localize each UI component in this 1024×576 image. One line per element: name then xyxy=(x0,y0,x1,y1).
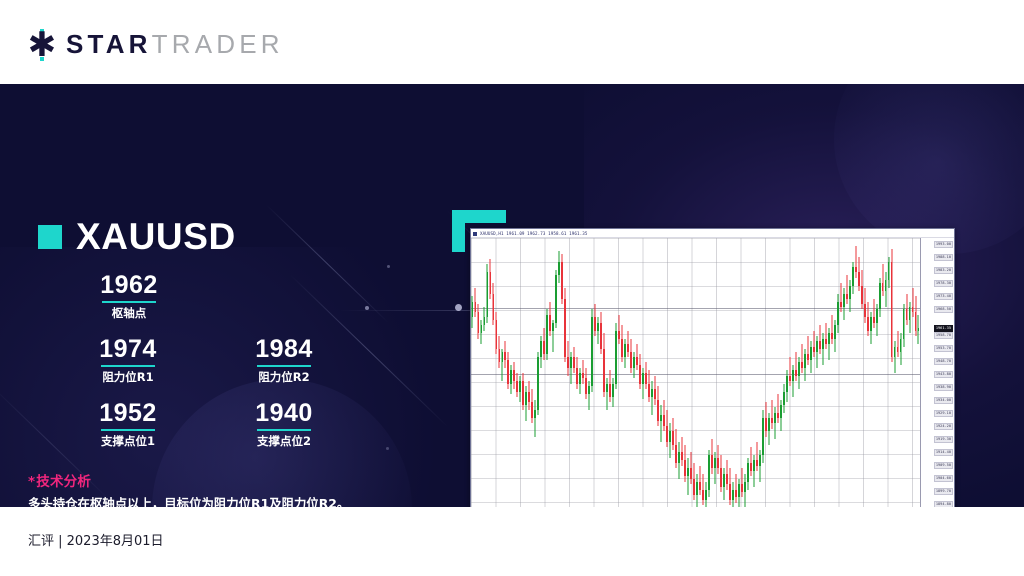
candlestick xyxy=(867,238,869,507)
stat-pivot: 1962 枢轴点 xyxy=(74,272,184,320)
price-tick: 1929.10 xyxy=(934,410,953,417)
candlestick xyxy=(852,238,854,507)
candlestick xyxy=(528,238,530,507)
candlestick xyxy=(747,238,749,507)
candlestick xyxy=(741,238,743,507)
stat-underline xyxy=(101,429,155,431)
analysis-heading-text: 技术分析 xyxy=(36,474,91,490)
stat-underline xyxy=(257,365,311,367)
candlestick xyxy=(558,238,560,507)
candlestick xyxy=(846,238,848,507)
stat-value: 1952 xyxy=(74,400,182,427)
candlestick xyxy=(675,238,677,507)
candlestick xyxy=(819,238,821,507)
pivot-row-support: 1952 支撑点位1 1940 支撑点位2 xyxy=(74,400,338,448)
price-tick: 1988.10 xyxy=(934,254,953,261)
price-tick: 1924.20 xyxy=(934,423,953,430)
candlestick xyxy=(798,238,800,507)
candlestick xyxy=(481,238,483,507)
candlestick xyxy=(567,238,569,507)
asterisk-mark-icon: * xyxy=(28,474,35,490)
candlestick xyxy=(771,238,773,507)
price-tick: 1978.30 xyxy=(934,280,953,287)
candlestick xyxy=(855,238,857,507)
footer-text: 汇评 | 2023年8月01日 xyxy=(28,533,164,551)
chart-titlebar: XAUUSD,H1 1961.09 1962.73 1958.61 1961.3… xyxy=(471,229,954,238)
accent-square-icon xyxy=(38,225,62,249)
bg-dot xyxy=(386,447,389,450)
candlestick xyxy=(627,238,629,507)
stat-support-1: 1952 支撑点位1 xyxy=(74,400,182,448)
candlestick xyxy=(816,238,818,507)
logo-asterisk-glyph: ✱ xyxy=(27,30,57,60)
candlestick xyxy=(714,238,716,507)
page-title: XAUUSD xyxy=(76,218,236,255)
candlestick xyxy=(633,238,635,507)
analysis-line-1: 多头持仓在枢轴点以上，目标位为阻力位R1及阻力位R2。 xyxy=(28,495,408,507)
candlestick xyxy=(639,238,641,507)
stat-support-2: 1940 支撑点位2 xyxy=(230,400,338,448)
candlestick xyxy=(564,238,566,507)
candlestick xyxy=(897,238,899,507)
candlestick xyxy=(804,238,806,507)
candlestick xyxy=(510,238,512,507)
candlestick xyxy=(873,238,875,507)
stat-value: 1940 xyxy=(230,400,338,427)
stat-value: 1962 xyxy=(74,272,184,299)
price-tick: 1973.40 xyxy=(934,293,953,300)
candlestick xyxy=(603,238,605,507)
brand-name-light: TRADER xyxy=(152,29,284,59)
price-tick: 1983.20 xyxy=(934,267,953,274)
chart-titlebar-text: XAUUSD,H1 1961.09 1962.73 1958.61 1961.3… xyxy=(480,229,587,238)
price-tick: 1993.00 xyxy=(934,241,953,248)
candlestick xyxy=(630,238,632,507)
candlestick xyxy=(684,238,686,507)
candlestick xyxy=(666,238,668,507)
candlestick xyxy=(507,238,509,507)
stat-value: 1974 xyxy=(74,336,182,363)
candlestick xyxy=(705,238,707,507)
candlestick xyxy=(672,238,674,507)
candlestick xyxy=(585,238,587,507)
candlestick xyxy=(807,238,809,507)
candlestick xyxy=(789,238,791,507)
stat-label: 支撑点位1 xyxy=(74,434,182,448)
candlestick xyxy=(669,238,671,507)
candlestick xyxy=(777,238,779,507)
candlestick xyxy=(762,238,764,507)
candlestick xyxy=(876,238,878,507)
candlestick xyxy=(810,238,812,507)
candlestick xyxy=(861,238,863,507)
candlestick xyxy=(780,238,782,507)
candlestick xyxy=(753,238,755,507)
candlestick xyxy=(723,238,725,507)
brand-logo[interactable]: ✱ STARTRADER xyxy=(27,29,284,60)
analysis-heading: *技术分析 xyxy=(28,470,408,490)
candlestick xyxy=(484,238,486,507)
stat-value: 1984 xyxy=(230,336,338,363)
candlestick xyxy=(735,238,737,507)
candlestick xyxy=(882,238,884,507)
candlestick xyxy=(894,238,896,507)
candlestick xyxy=(708,238,710,507)
candlestick xyxy=(582,238,584,507)
candlestick xyxy=(840,238,842,507)
candlestick xyxy=(825,238,827,507)
analysis-body: 多头持仓在枢轴点以上，目标位为阻力位R1及阻力位R2。 若低于枢轴点，则可能下跌… xyxy=(28,495,408,507)
candlestick xyxy=(478,238,480,507)
bg-dot xyxy=(365,306,369,310)
price-tick: 1914.40 xyxy=(934,449,953,456)
chart-window[interactable]: XAUUSD,H1 1961.09 1962.73 1958.61 1961.3… xyxy=(470,228,955,507)
candlestick xyxy=(783,238,785,507)
price-tick: 1934.00 xyxy=(934,397,953,404)
logo-pip-bottom xyxy=(40,57,44,61)
candlestick xyxy=(888,238,890,507)
candlestick xyxy=(732,238,734,507)
candlestick xyxy=(786,238,788,507)
stat-resistance-1: 1974 阻力位R1 xyxy=(74,336,182,384)
page-header: ✱ STARTRADER xyxy=(0,0,1024,84)
candlestick xyxy=(912,238,914,507)
candlestick xyxy=(618,238,620,507)
price-tick: 1938.90 xyxy=(934,384,953,391)
stat-label: 阻力位R2 xyxy=(230,370,338,384)
candlestick xyxy=(487,238,489,507)
candlestick xyxy=(496,238,498,507)
candlestick xyxy=(795,238,797,507)
candlestick xyxy=(657,238,659,507)
candlestick xyxy=(543,238,545,507)
candlestick xyxy=(615,238,617,507)
candlestick xyxy=(690,238,692,507)
stat-underline xyxy=(102,301,156,303)
candlestick xyxy=(711,238,713,507)
candlestick xyxy=(717,238,719,507)
candlestick xyxy=(813,238,815,507)
technical-analysis-block: *技术分析 多头持仓在枢轴点以上，目标位为阻力位R1及阻力位R2。 若低于枢轴点… xyxy=(28,470,408,507)
candlestick xyxy=(591,238,593,507)
candlestick xyxy=(879,238,881,507)
candlestick xyxy=(828,238,830,507)
candlestick xyxy=(519,238,521,507)
brand-name-bold: STAR xyxy=(66,29,152,59)
candlestick xyxy=(801,238,803,507)
price-tick: 1943.80 xyxy=(934,371,953,378)
candlestick xyxy=(687,238,689,507)
candlestick xyxy=(831,238,833,507)
candlestick xyxy=(534,238,536,507)
hero-section: XAUUSD 1962 枢轴点 1974 阻力位R1 1984 阻力位R2 xyxy=(0,84,1024,507)
price-tick-current: 1961.35 xyxy=(934,325,953,332)
price-axis[interactable]: 1993.001988.101983.201978.301973.401968.… xyxy=(920,238,954,507)
price-tick: 1958.70 xyxy=(934,332,953,339)
price-tick: 1968.50 xyxy=(934,306,953,313)
candlestick xyxy=(502,238,504,507)
candlestick xyxy=(573,238,575,507)
candlestick xyxy=(579,238,581,507)
candlestick xyxy=(837,238,839,507)
stat-underline xyxy=(101,365,155,367)
candlestick xyxy=(576,238,578,507)
candlestick xyxy=(531,238,533,507)
candlestick xyxy=(834,238,836,507)
price-tick: 1948.70 xyxy=(934,358,953,365)
candlestick xyxy=(849,238,851,507)
candlestick xyxy=(756,238,758,507)
candlestick xyxy=(645,238,647,507)
candlestick xyxy=(678,238,680,507)
candlestick xyxy=(750,238,752,507)
candlestick xyxy=(729,238,731,507)
instrument-title-row: XAUUSD xyxy=(38,218,236,255)
candlestick xyxy=(651,238,653,507)
candlestick xyxy=(472,238,474,507)
candlestick xyxy=(768,238,770,507)
candlestick xyxy=(660,238,662,507)
candlestick xyxy=(696,238,698,507)
candlestick xyxy=(499,238,501,507)
candlestick xyxy=(525,238,527,507)
candlestick xyxy=(903,238,905,507)
candlestick xyxy=(594,238,596,507)
candlestick xyxy=(588,238,590,507)
candlestick xyxy=(612,238,614,507)
price-tick: 1899.70 xyxy=(934,488,953,495)
candlestick xyxy=(475,238,477,507)
stat-underline xyxy=(257,429,311,431)
pivot-stats: 1962 枢轴点 1974 阻力位R1 1984 阻力位R2 1952 支撑点位… xyxy=(38,272,338,448)
candlestick xyxy=(597,238,599,507)
bg-dot xyxy=(387,265,390,268)
candlestick xyxy=(693,238,695,507)
candlestick xyxy=(726,238,728,507)
candlestick xyxy=(522,238,524,507)
candlestick xyxy=(843,238,845,507)
candlestick xyxy=(699,238,701,507)
candlestick xyxy=(765,238,767,507)
candlestick xyxy=(636,238,638,507)
price-tick: 1904.60 xyxy=(934,475,953,482)
candlestick xyxy=(555,238,557,507)
brand-wordmark: STARTRADER xyxy=(66,29,284,60)
candlestick xyxy=(744,238,746,507)
candlestick xyxy=(606,238,608,507)
chart-window-icon xyxy=(473,232,477,236)
price-tick: 1909.50 xyxy=(934,462,953,469)
asterisk-star-icon: ✱ xyxy=(27,30,57,60)
candlestick xyxy=(885,238,887,507)
candlestick xyxy=(759,238,761,507)
candlestick xyxy=(900,238,902,507)
candlestick xyxy=(642,238,644,507)
pivot-row-resistance: 1974 阻力位R1 1984 阻力位R2 xyxy=(74,336,338,384)
candlestick xyxy=(621,238,623,507)
candlestick xyxy=(906,238,908,507)
stat-resistance-2: 1984 阻力位R2 xyxy=(230,336,338,384)
pivot-row-pivot: 1962 枢轴点 xyxy=(74,272,338,320)
candlestick xyxy=(720,238,722,507)
candlestick xyxy=(561,238,563,507)
price-tick: 1919.30 xyxy=(934,436,953,443)
candlestick xyxy=(792,238,794,507)
candlestick xyxy=(774,238,776,507)
candlestick xyxy=(681,238,683,507)
price-tick: 1953.70 xyxy=(934,345,953,352)
candlestick xyxy=(570,238,572,507)
candlestick xyxy=(624,238,626,507)
candlestick xyxy=(513,238,515,507)
candlestick xyxy=(540,238,542,507)
candlestick xyxy=(546,238,548,507)
candlestick xyxy=(537,238,539,507)
candlestick xyxy=(609,238,611,507)
candlestick xyxy=(738,238,740,507)
candlestick xyxy=(648,238,650,507)
candlestick xyxy=(915,238,917,507)
candlestick xyxy=(909,238,911,507)
stat-label: 枢轴点 xyxy=(74,306,184,320)
stat-label: 阻力位R1 xyxy=(74,370,182,384)
candlestick xyxy=(549,238,551,507)
candlestick xyxy=(822,238,824,507)
candlestick xyxy=(702,238,704,507)
candlestick-plot[interactable] xyxy=(471,238,920,507)
candlestick xyxy=(870,238,872,507)
bg-dot xyxy=(455,304,462,311)
candlestick xyxy=(552,238,554,507)
candlestick xyxy=(864,238,866,507)
candlestick xyxy=(600,238,602,507)
candlestick xyxy=(891,238,893,507)
candlestick xyxy=(504,238,506,507)
candlestick xyxy=(654,238,656,507)
candlestick xyxy=(663,238,665,507)
candlestick xyxy=(858,238,860,507)
stat-label: 支撑点位2 xyxy=(230,434,338,448)
page-footer: 汇评 | 2023年8月01日 xyxy=(0,507,1024,576)
candlestick xyxy=(490,238,492,507)
candlestick xyxy=(516,238,518,507)
candlestick xyxy=(493,238,495,507)
